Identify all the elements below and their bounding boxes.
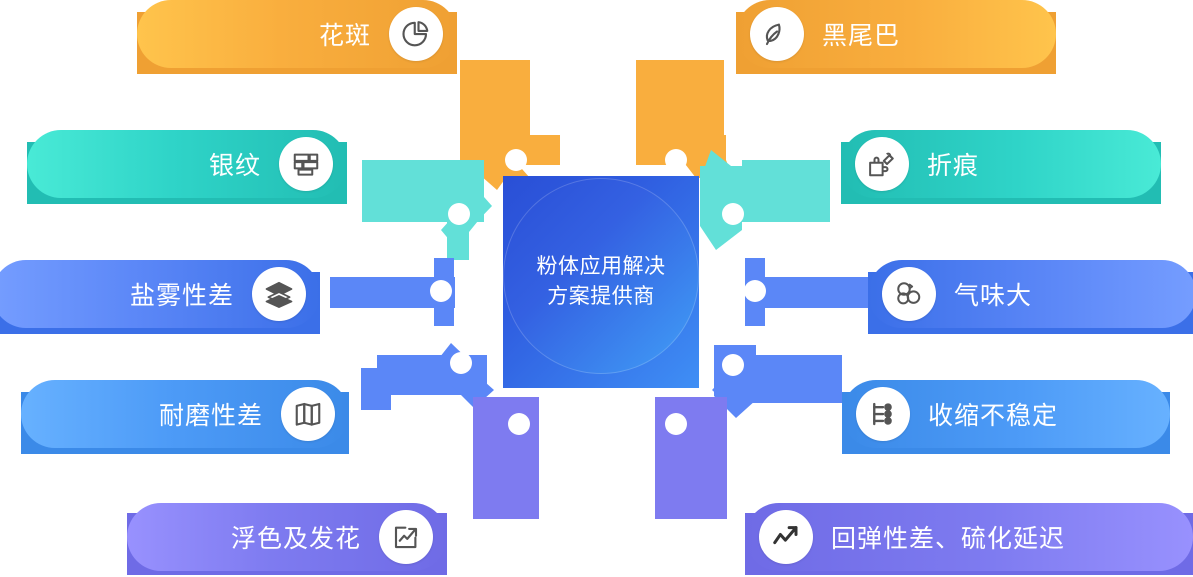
pill-label: 收缩不稳定 [910, 396, 1076, 432]
pill-label: 回弹性差、硫化延迟 [813, 519, 1083, 555]
pill-naimo[interactable]: 耐磨性差 [21, 380, 349, 448]
pill-label: 浮色及发花 [213, 519, 379, 555]
layers-icon [252, 267, 306, 321]
pill-label: 黑尾巴 [804, 16, 918, 52]
pill-label: 花斑 [301, 16, 389, 52]
book-map-icon [281, 387, 335, 441]
pill-zhehen[interactable]: 折痕 [841, 130, 1161, 198]
pill-label: 折痕 [909, 146, 997, 182]
connector-yanwu [330, 258, 455, 326]
pill-huaban[interactable]: 花斑 [137, 0, 457, 68]
puzzle-piece-icon [855, 137, 909, 191]
odor-icon [882, 267, 936, 321]
pill-yinwen[interactable]: 银纹 [27, 130, 347, 198]
sitemap-icon [856, 387, 910, 441]
pill-label: 气味大 [936, 276, 1050, 312]
pill-heiweiba[interactable]: 黑尾巴 [736, 0, 1056, 68]
pie-chart-icon [389, 7, 443, 61]
leaf-icon [750, 7, 804, 61]
pill-shousuo[interactable]: 收缩不稳定 [842, 380, 1170, 448]
trending-box-icon [379, 510, 433, 564]
connector-qiweida [744, 258, 870, 326]
connector-shousuo [712, 345, 842, 418]
pill-label: 银纹 [191, 146, 279, 182]
connector-yinwen [362, 160, 492, 260]
pill-label: 盐雾性差 [112, 276, 252, 312]
line-chart-icon [759, 510, 813, 564]
brick-wall-icon [279, 137, 333, 191]
center-hub-label: 粉体应用解决 方案提供商 [503, 176, 699, 388]
connector-huitan [655, 397, 727, 519]
connector-fuse [473, 397, 539, 519]
pill-qiweida[interactable]: 气味大 [868, 260, 1193, 328]
connector-zhehen [700, 150, 830, 250]
infographic-canvas: 粉体应用解决 方案提供商 花斑黑尾巴银纹折痕盐雾性差气味大耐磨性差收缩不稳定浮色… [0, 0, 1193, 577]
pill-yanwu[interactable]: 盐雾性差 [0, 260, 320, 328]
pill-fuse[interactable]: 浮色及发花 [127, 503, 447, 571]
pill-huitan[interactable]: 回弹性差、硫化延迟 [745, 503, 1193, 571]
pill-label: 耐磨性差 [141, 396, 281, 432]
